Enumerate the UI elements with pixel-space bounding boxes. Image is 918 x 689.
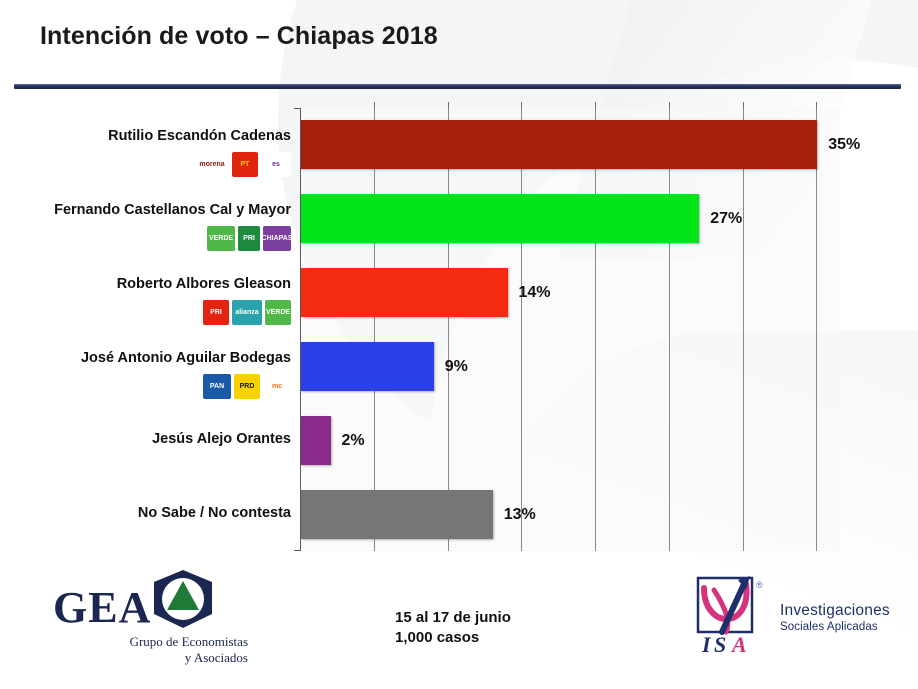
title-divider: [14, 84, 901, 89]
slide-canvas: Intención de voto – Chiapas 2018 35%Ruti…: [0, 0, 918, 689]
gridline: [816, 108, 817, 551]
axis-tick: [816, 102, 817, 109]
gea-subtitle: Grupo de Economistas y Asociados: [58, 634, 248, 667]
party-logo-group: morenaPTes: [195, 152, 291, 177]
axis-tick: [669, 102, 670, 109]
party-logo-prd-icon: PRD: [234, 374, 260, 399]
page-title: Intención de voto – Chiapas 2018: [40, 22, 438, 51]
survey-dates: 15 al 17 de junio: [395, 608, 511, 628]
axis-tick: [743, 102, 744, 109]
isa-line1: Investigaciones: [780, 602, 890, 620]
party-logo-pri-icon: PRI: [203, 300, 229, 325]
value-axis: [300, 108, 301, 551]
gea-wordmark: GEA: [53, 582, 151, 633]
isa-logo: I S A ® Investigaciones Sociales Aplicad…: [688, 572, 903, 664]
gridline: [374, 108, 375, 551]
gridline: [743, 108, 744, 551]
gea-triangle-emblem-icon: [152, 568, 214, 630]
category-label: Jesús Alejo Orantes: [152, 431, 291, 447]
gridline: [521, 108, 522, 551]
party-logo-encuentro-social-icon: es: [261, 152, 291, 177]
category-label: Rutilio Escandón Cadenas: [108, 128, 291, 144]
party-logo-movimiento-ciudadano-icon: mc: [263, 374, 291, 399]
bar: [301, 416, 331, 465]
party-logo-group: PRIalianzaVERDE: [203, 300, 291, 325]
bar: [301, 268, 508, 317]
bar-value-label: 9%: [445, 342, 468, 391]
gridline: [669, 108, 670, 551]
bar-value-label: 2%: [342, 416, 365, 465]
category-label: José Antonio Aguilar Bodegas: [81, 350, 291, 366]
party-logo-pri-icon: PRI: [238, 226, 260, 251]
gridline: [595, 108, 596, 551]
party-logo-pan-icon: PAN: [203, 374, 231, 399]
axis-tick: [521, 102, 522, 109]
party-logo-pt-icon: PT: [232, 152, 258, 177]
svg-text:®: ®: [756, 580, 763, 590]
category-label: Fernando Castellanos Cal y Mayor: [54, 202, 291, 218]
bar-value-label: 14%: [519, 268, 551, 317]
axis-tick: [448, 102, 449, 109]
party-logo-partido-verde-icon: VERDE: [207, 226, 235, 251]
party-logo-partido-verde-icon: VERDE: [265, 300, 291, 325]
isa-line2: Sociales Aplicadas: [780, 621, 890, 633]
gea-subtitle-line1: Grupo de Economistas: [58, 634, 248, 650]
party-logo-nueva-alianza-icon: alianza: [232, 300, 262, 325]
svg-text:I: I: [701, 632, 712, 657]
bar-value-label: 13%: [504, 490, 536, 539]
plot-area: [300, 108, 840, 551]
svg-text:S: S: [714, 632, 726, 657]
party-logo-morena-icon: morena: [195, 152, 229, 177]
survey-sample-size: 1,000 casos: [395, 628, 511, 648]
gea-logo: GEA Grupo de Economistas y Asociados: [48, 566, 248, 662]
category-label: Roberto Albores Gleason: [117, 276, 291, 292]
isa-emblem-icon: I S A ®: [688, 572, 774, 658]
bar: [301, 342, 434, 391]
svg-text:A: A: [730, 632, 747, 657]
survey-note: 15 al 17 de junio 1,000 casos: [395, 608, 511, 649]
gridline: [448, 108, 449, 551]
axis-tick: [595, 102, 596, 109]
category-label: No Sabe / No contesta: [138, 505, 291, 521]
bar: [301, 194, 699, 243]
bar: [301, 490, 493, 539]
axis-cap-top: [294, 108, 301, 109]
party-logo-group: PANPRDmc: [203, 374, 291, 399]
bar-value-label: 27%: [710, 194, 742, 243]
vote-intention-bar-chart: 35%Rutilio Escandón CadenasmorenaPTes27%…: [0, 100, 918, 555]
axis-cap-bottom: [294, 550, 301, 551]
bar-value-label: 35%: [828, 120, 860, 169]
bar: [301, 120, 817, 169]
isa-wordmark: Investigaciones Sociales Aplicadas: [780, 602, 890, 633]
party-logo-group: VERDEPRICHIAPAS: [207, 226, 291, 251]
gea-subtitle-line2: y Asociados: [58, 650, 248, 666]
party-logo-chiapas-unido-icon: CHIAPAS: [263, 226, 291, 251]
axis-tick: [374, 102, 375, 109]
